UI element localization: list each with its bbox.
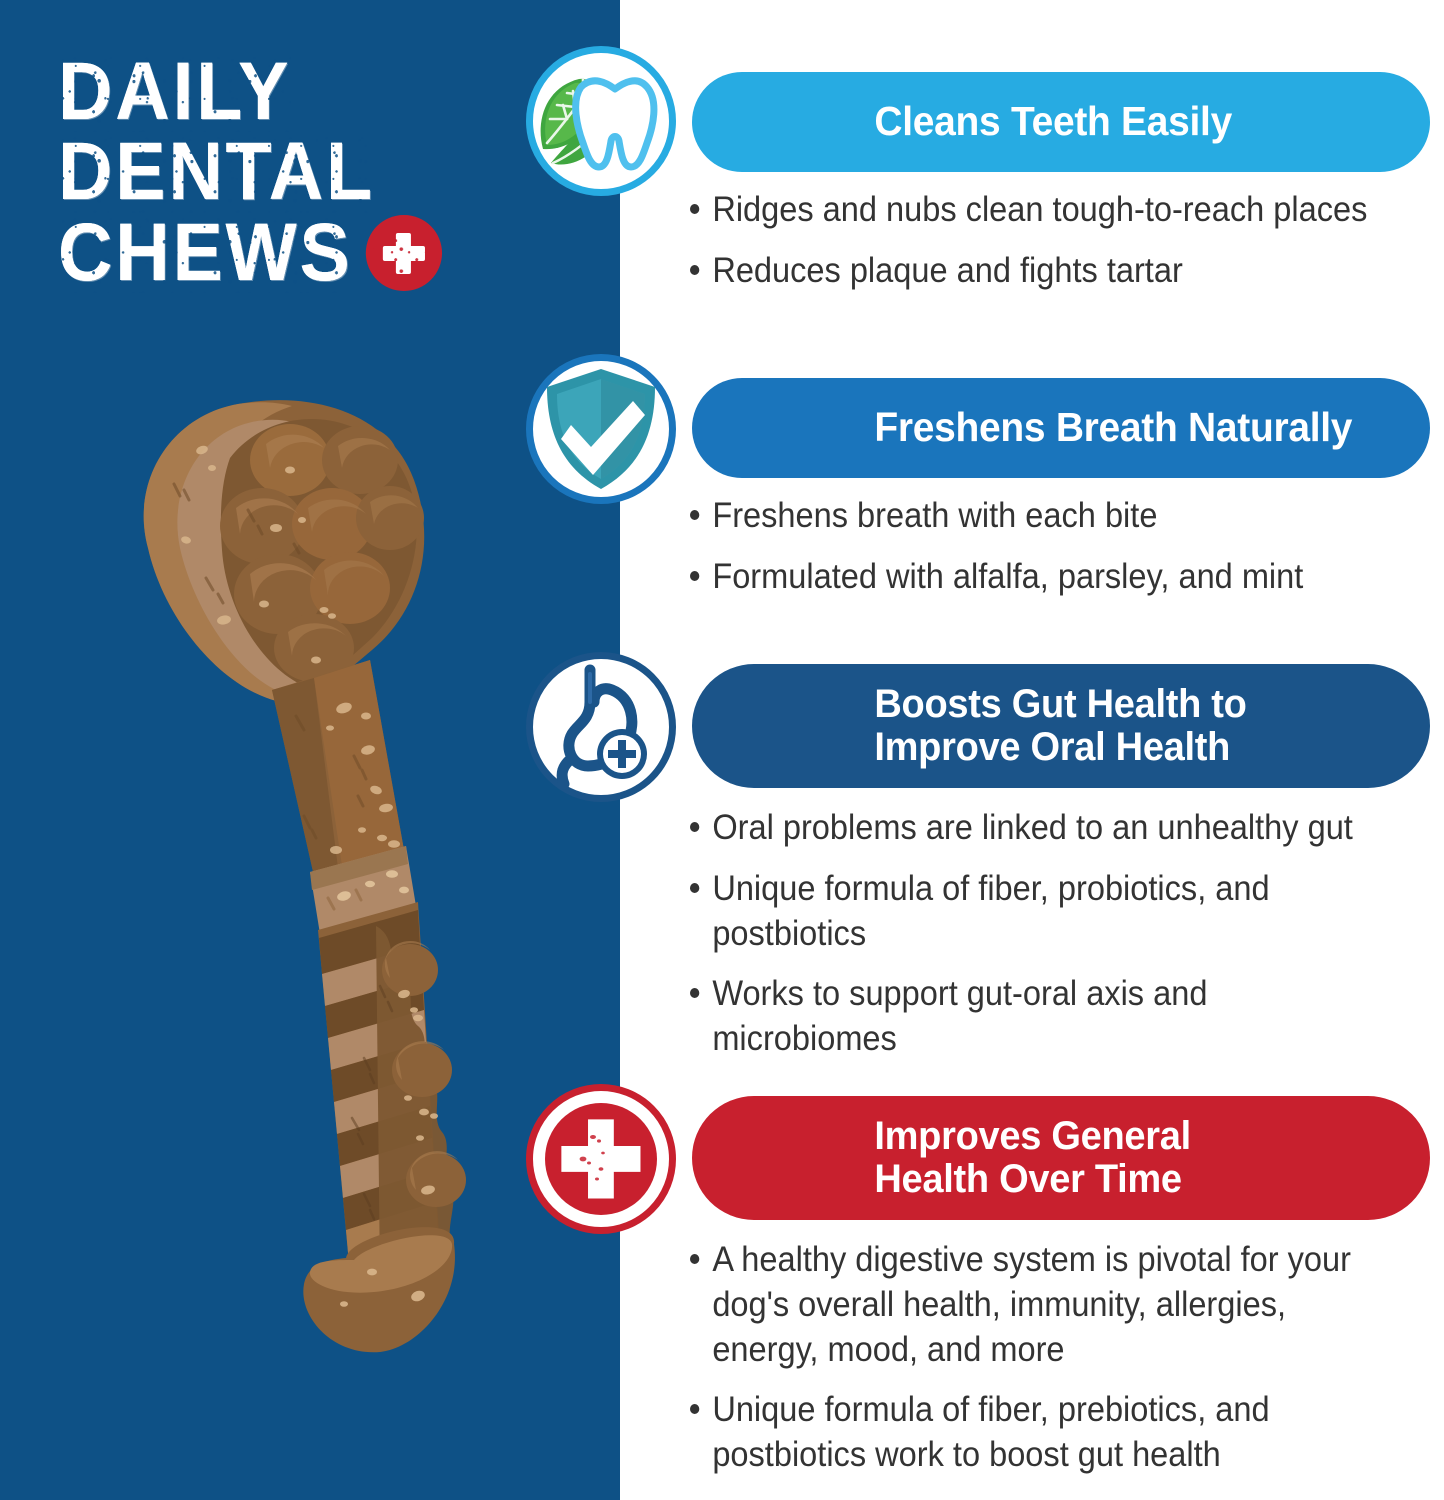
dog-dental-chew-illustration: [118, 398, 518, 1388]
bullet-dot: [690, 265, 699, 275]
bullet-dot: [690, 988, 699, 998]
medical-cross-circle-icon: [526, 1084, 676, 1234]
feature-heading-gut-health: Boosts Gut Health to Improve Oral Health: [692, 683, 1269, 769]
title-text-dental: DENTAL: [58, 132, 375, 212]
feature-banner-freshens-breath: Freshens Breath Naturally: [692, 378, 1430, 478]
feature-bullets-gut-health: Oral problems are linked to an unhealthy…: [690, 806, 1444, 1078]
list-item: Reduces plaque and fights tartar: [690, 249, 1393, 294]
feature-heading-cleans-teeth: Cleans Teeth Easily: [692, 100, 1255, 143]
list-item: Oral problems are linked to an unhealthy…: [690, 806, 1393, 851]
list-item: Freshens breath with each bite: [690, 494, 1393, 539]
bullet-dot: [690, 1404, 699, 1414]
list-item: Ridges and nubs clean tough-to-reach pla…: [690, 188, 1393, 233]
list-item: Unique formula of fiber, prebiotics, and…: [690, 1388, 1378, 1478]
feature-bullets-general-health: A healthy digestive system is pivotal fo…: [690, 1238, 1430, 1494]
feature-banner-gut-health: Boosts Gut Health to Improve Oral Health: [692, 664, 1430, 788]
cross-bar-horizontal: [383, 246, 425, 261]
title-text-daily: DAILY: [58, 52, 291, 132]
list-item: Formulated with alfalfa, parsley, and mi…: [690, 555, 1393, 600]
shield-check-icon: [526, 354, 676, 504]
feature-heading-freshens-breath: Freshens Breath Naturally: [692, 406, 1375, 449]
list-item: A healthy digestive system is pivotal fo…: [690, 1238, 1378, 1372]
feature-bullets-cleans-teeth: Ridges and nubs clean tough-to-reach pla…: [690, 188, 1444, 310]
stomach-plus-icon: [526, 652, 676, 802]
bullet-dot: [690, 883, 699, 893]
cross-bar-vertical: [396, 233, 411, 274]
bullet-dot: [690, 822, 699, 832]
title-line-1: DAILY: [58, 52, 555, 132]
list-item: Unique formula of fiber, probiotics, and…: [690, 867, 1393, 957]
title-line-2: DENTAL: [58, 132, 555, 212]
page-title: DAILY DENTAL CHEWS: [58, 52, 598, 293]
infographic-page: DAILY DENTAL CHEWS: [0, 0, 1444, 1500]
feature-bullets-freshens-breath: Freshens breath with each bite Formulate…: [690, 494, 1444, 616]
title-text-chews: CHEWS: [58, 213, 353, 293]
tooth-mint-leaf-icon: [526, 46, 676, 196]
title-line-3: CHEWS: [58, 213, 555, 293]
bullet-dot: [690, 204, 699, 214]
list-item: Works to support gut-oral axis and micro…: [690, 972, 1393, 1062]
feature-heading-general-health: Improves General Health Over Time: [692, 1115, 1214, 1201]
bullet-dot: [690, 1254, 699, 1264]
feature-banner-general-health: Improves General Health Over Time: [692, 1096, 1430, 1220]
medical-cross-icon: [366, 215, 442, 291]
bullet-dot: [690, 571, 699, 581]
feature-banner-cleans-teeth: Cleans Teeth Easily: [692, 72, 1430, 172]
bullet-dot: [690, 510, 699, 520]
